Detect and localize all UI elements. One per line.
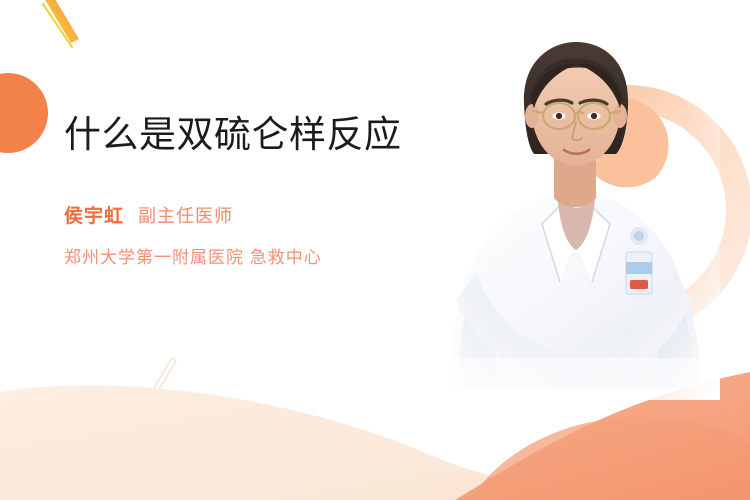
bottom-left-wave-decoration (0, 385, 750, 500)
doctor-name: 侯宇虹 (64, 201, 124, 228)
page-title: 什么是双硫仑样反应 (64, 112, 424, 158)
doctor-photo (430, 28, 720, 400)
orange-circle-decoration (0, 73, 48, 153)
doctor-rank: 副主任医师 (138, 202, 233, 228)
bottom-right-wave-front-decoration (470, 417, 750, 500)
outline-slash-icon (148, 358, 176, 401)
text-block: 什么是双硫仑样反应 侯宇虹 副主任医师 郑州大学第一附属医院 急救中心 (64, 112, 424, 268)
top-left-thin-line-icon (43, 4, 72, 47)
doctor-affiliation: 郑州大学第一附属医院 急救中心 (64, 243, 424, 268)
doctor-intro-card: 什么是双硫仑样反应 侯宇虹 副主任医师 郑州大学第一附属医院 急救中心 (0, 0, 750, 500)
byline: 侯宇虹 副主任医师 (64, 201, 424, 228)
top-left-gradient-stroke-icon (44, 0, 79, 43)
